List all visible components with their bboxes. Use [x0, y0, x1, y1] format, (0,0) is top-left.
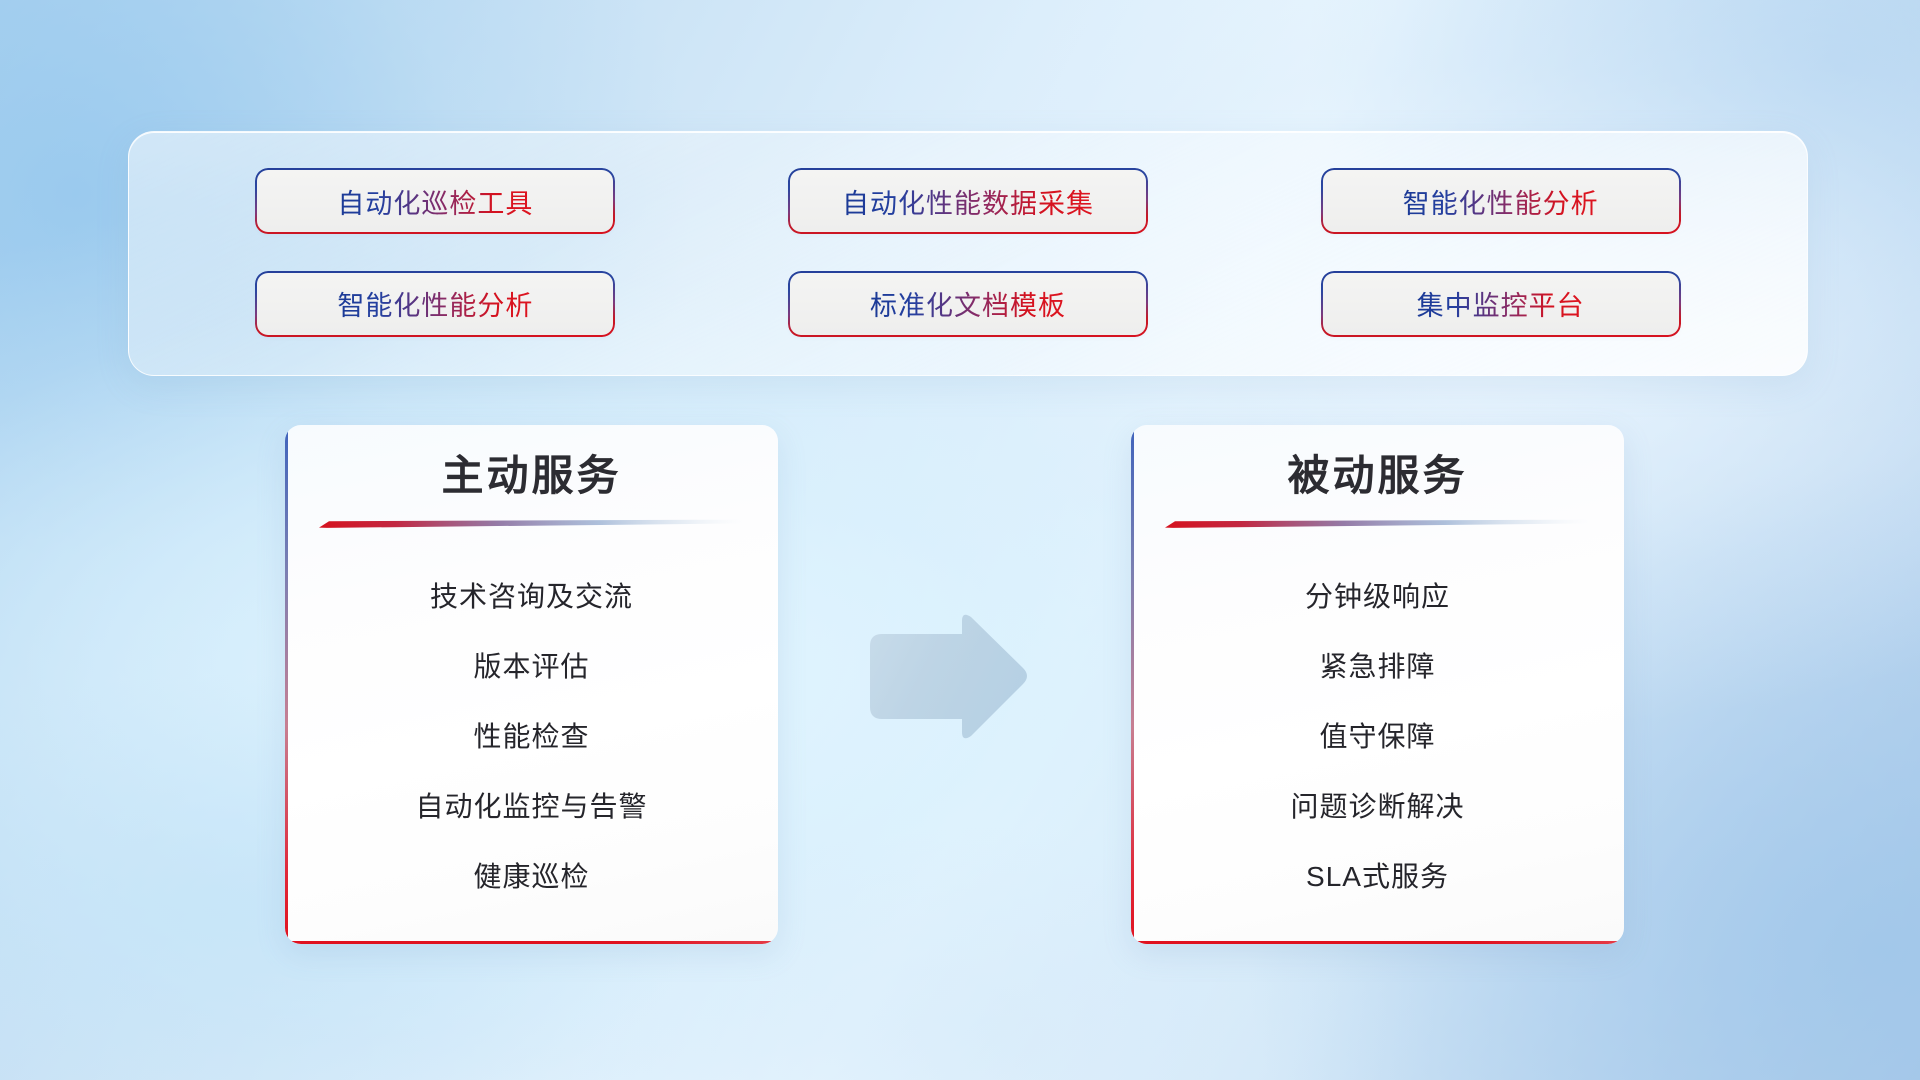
service-item-list: 技术咨询及交流 版本评估 性能检查 自动化监控与告警 健康巡检	[319, 562, 744, 912]
capability-pill-label: 标准化文档模板	[870, 284, 1066, 323]
card-title: 主动服务	[319, 451, 744, 501]
service-item[interactable]: 技术咨询及交流	[319, 562, 744, 632]
card-title: 被动服务	[1165, 451, 1590, 501]
service-item[interactable]: 值守保障	[1165, 702, 1590, 772]
capability-pill-2[interactable]: 自动化性能数据采集	[790, 170, 1146, 232]
capability-pill-6[interactable]: 集中监控平台	[1323, 273, 1679, 335]
service-item[interactable]: 分钟级响应	[1165, 562, 1590, 632]
card-title-underline	[1165, 519, 1590, 528]
capability-pill-label: 集中监控平台	[1417, 284, 1585, 323]
service-item[interactable]: SLA式服务	[1165, 842, 1590, 912]
capability-pill-5[interactable]: 标准化文档模板	[790, 273, 1146, 335]
service-item[interactable]: 健康巡检	[319, 842, 744, 912]
capability-pill-label: 智能化性能分析	[337, 284, 533, 323]
capability-pill-label: 自动化巡检工具	[337, 182, 533, 221]
capability-pill-3[interactable]: 智能化性能分析	[1323, 170, 1679, 232]
service-item-list: 分钟级响应 紧急排障 值守保障 问题诊断解决 SLA式服务	[1165, 562, 1590, 912]
capability-pill-grid: 自动化巡检工具 自动化性能数据采集 智能化性能分析 智能化性能分析 标准化文档模…	[129, 132, 1807, 375]
service-item[interactable]: 性能检查	[319, 702, 744, 772]
capability-pill-label: 智能化性能分析	[1403, 182, 1599, 221]
service-card-active: 主动服务 技术咨询及交流 版本评估 性能检查	[285, 425, 778, 944]
service-item[interactable]: 问题诊断解决	[1165, 772, 1590, 842]
capability-panel: 自动化巡检工具 自动化性能数据采集 智能化性能分析 智能化性能分析 标准化文档模…	[128, 131, 1808, 376]
capability-pill-label: 自动化性能数据采集	[842, 182, 1094, 221]
capability-pill-1[interactable]: 自动化巡检工具	[257, 170, 613, 232]
service-item[interactable]: 紧急排障	[1165, 632, 1590, 702]
service-item[interactable]: 自动化监控与告警	[319, 772, 744, 842]
capability-pill-4[interactable]: 智能化性能分析	[257, 273, 613, 335]
arrow-right-icon	[866, 612, 1030, 742]
service-card-passive: 被动服务 分钟级响应 紧急排障 值守保障	[1131, 425, 1624, 944]
card-title-underline	[319, 519, 744, 528]
service-item[interactable]: 版本评估	[319, 632, 744, 702]
